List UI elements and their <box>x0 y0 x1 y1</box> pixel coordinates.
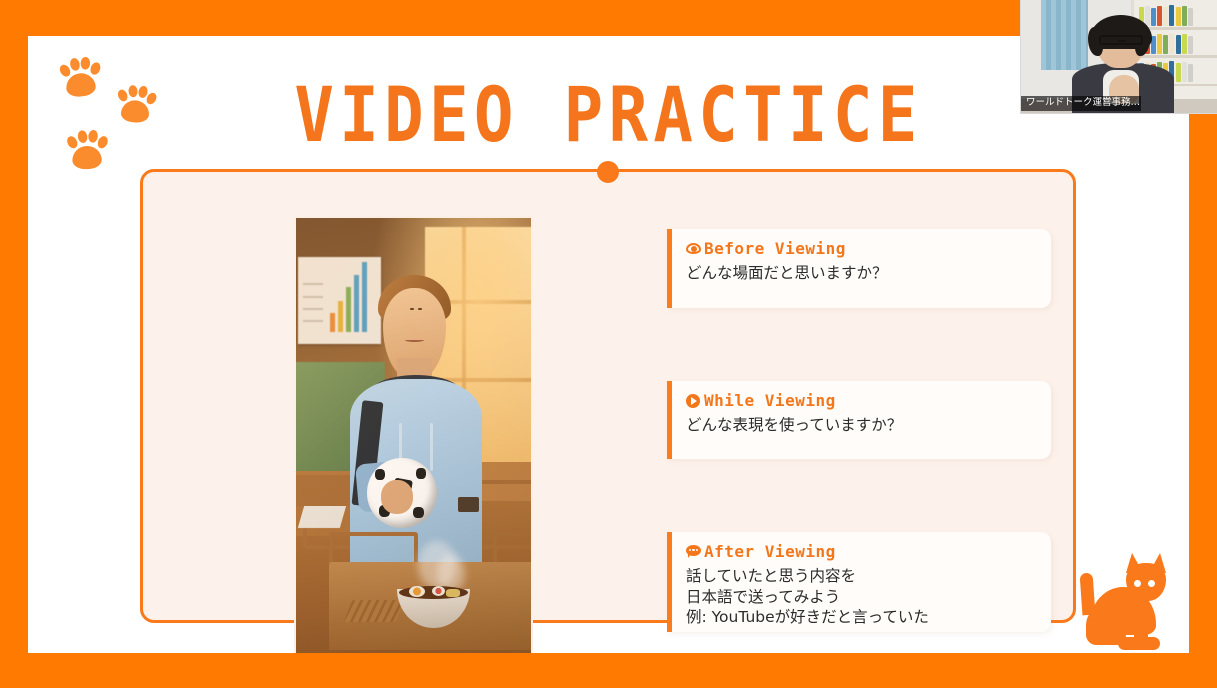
step-heading-label: After Viewing <box>704 543 836 561</box>
step-heading: While Viewing <box>686 392 1037 410</box>
step-body-line: 話していたと思う内容を <box>686 566 1037 587</box>
webcam-overlay[interactable]: ワールドトーク運営事務… <box>1020 0 1217 114</box>
speech-bubble-icon <box>686 544 701 559</box>
frame-accent-dot <box>597 161 619 183</box>
participant-name-label: ワールドトーク運営事務… <box>1021 96 1141 111</box>
step-body: どんな表現を使っていますか？ <box>686 415 1037 436</box>
step-body-line: どんな表現を使っていますか？ <box>686 415 1037 436</box>
step-body: どんな場面だと思いますか？ <box>686 263 1037 284</box>
step-card-after-viewing: After Viewing 話していたと思う内容を 日本語で送ってみよう 例: … <box>667 532 1051 632</box>
step-heading-label: While Viewing <box>704 392 836 410</box>
eye-icon <box>686 241 701 256</box>
slide-canvas: VIDEO PRACTICE <box>28 36 1189 653</box>
presentation-stage: VIDEO PRACTICE <box>0 0 1217 688</box>
slide-title: VIDEO PRACTICE <box>28 70 1189 159</box>
step-body-line: 例: YouTubeが好きだと言っていた <box>686 607 1037 628</box>
step-body: 話していたと思う内容を 日本語で送ってみよう 例: YouTubeが好きだと言っ… <box>686 566 1037 629</box>
step-card-while-viewing: While Viewing どんな表現を使っていますか？ <box>667 381 1051 459</box>
cat-silhouette-icon <box>1078 551 1178 653</box>
step-heading-label: Before Viewing <box>704 240 846 258</box>
step-body-line: 日本語で送ってみよう <box>686 587 1037 608</box>
step-card-before-viewing: Before Viewing どんな場面だと思いますか？ <box>667 229 1051 308</box>
step-heading: After Viewing <box>686 543 1037 561</box>
play-circle-icon <box>686 393 701 408</box>
step-heading: Before Viewing <box>686 240 1037 258</box>
content-frame: Before Viewing どんな場面だと思いますか？ While Viewi… <box>140 169 1076 623</box>
lesson-photo <box>294 216 533 653</box>
step-body-line: どんな場面だと思いますか？ <box>686 263 1037 284</box>
